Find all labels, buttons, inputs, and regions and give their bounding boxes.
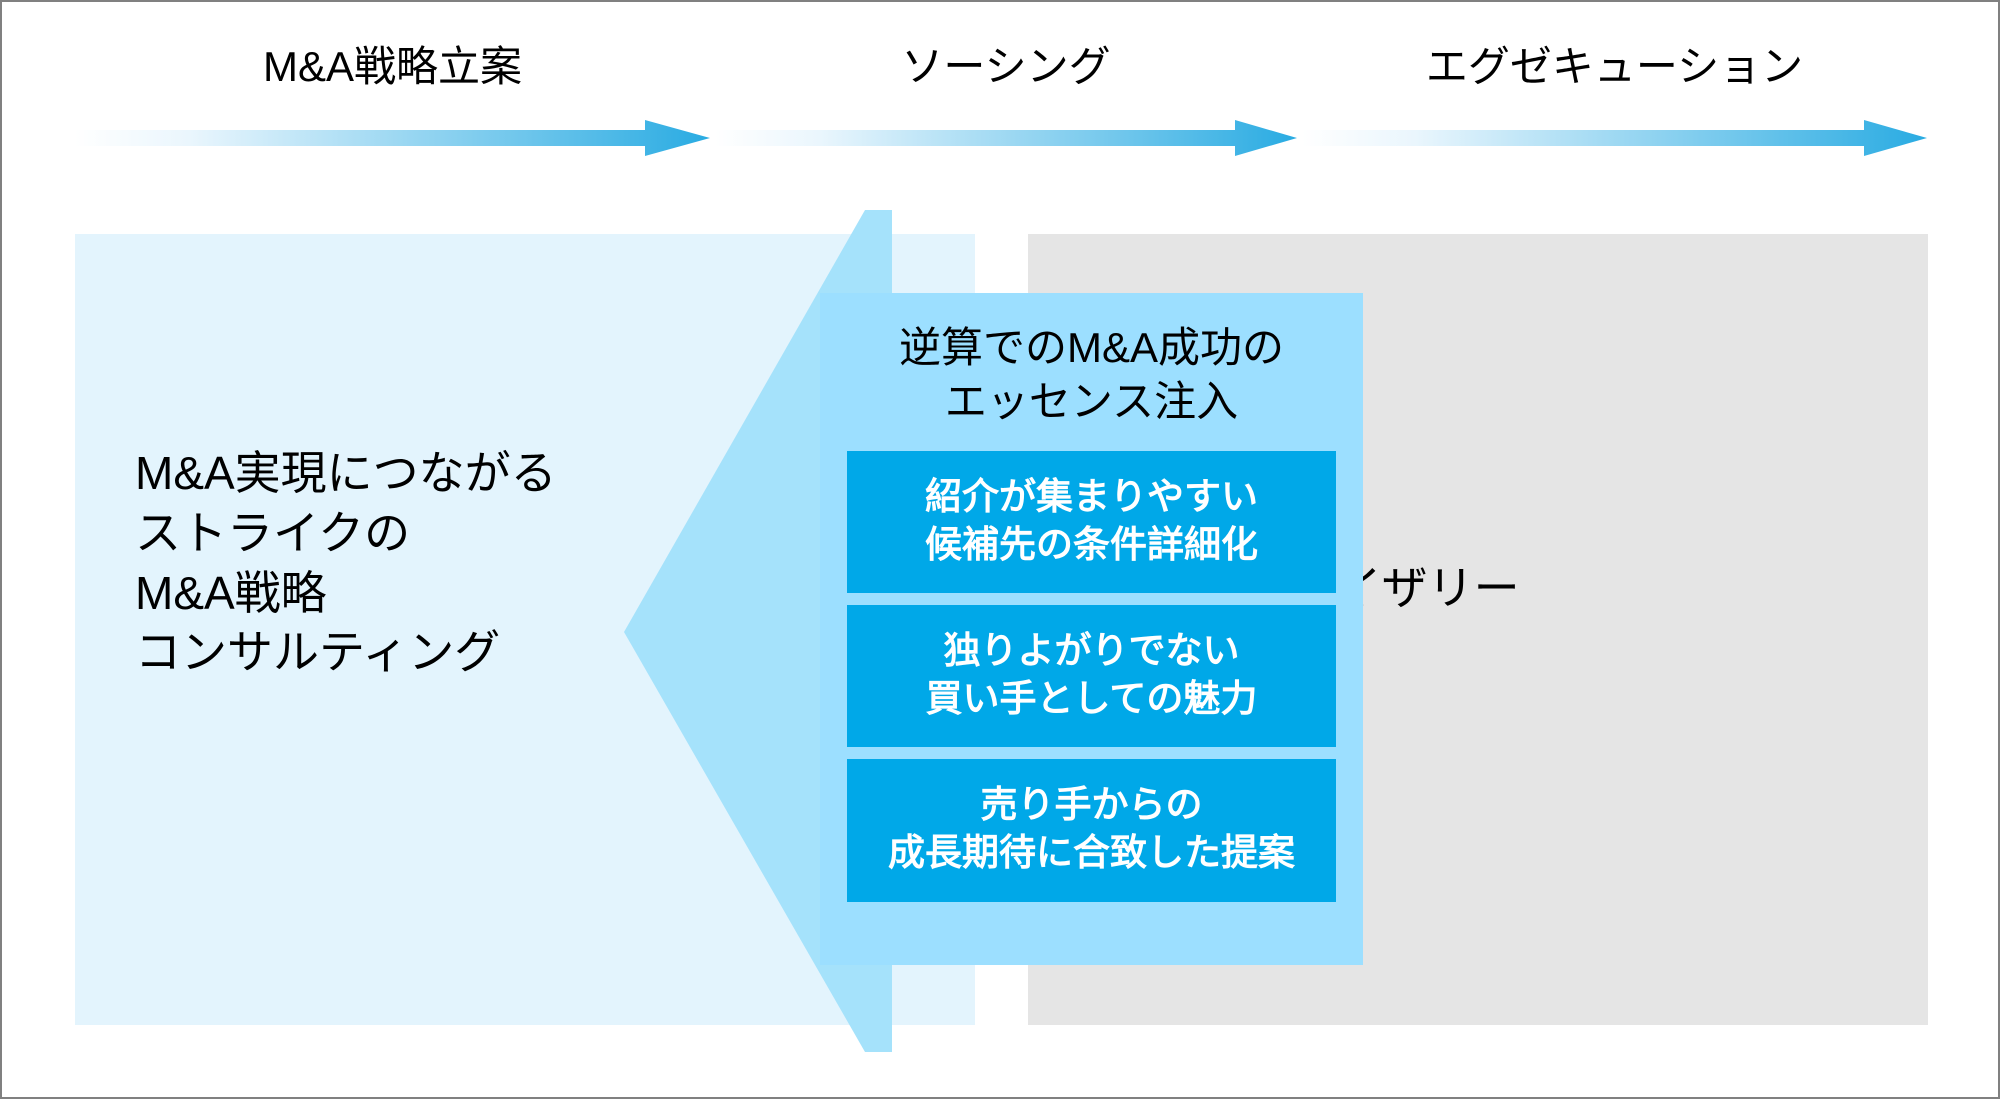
center-panel-heading: 逆算でのM&A成功の エッセンス注入: [820, 321, 1363, 429]
right-arrow-gradient-icon: [715, 120, 1297, 156]
center-card[interactable]: 売り手からの 成長期待に合致した提案: [847, 759, 1336, 901]
center-card[interactable]: 紹介が集まりやすい 候補先の条件詳細化: [847, 451, 1336, 593]
center-panel-essence-injection: 逆算でのM&A成功の エッセンス注入 紹介が集まりやすい 候補先の条件詳細化 独…: [820, 293, 1363, 965]
slide-canvas: M&A戦略立案 ソーシング: [0, 0, 2000, 1099]
phase-column-strategy: M&A戦略立案: [75, 2, 710, 172]
phase-column-execution: エグゼキューション: [1302, 2, 1927, 172]
phase-label: エグゼキューション: [1302, 44, 1927, 90]
left-panel-text: M&A実現につながる ストライクの M&A戦略 コンサルティング: [135, 444, 557, 683]
phase-column-sourcing: ソーシング: [715, 2, 1297, 172]
right-arrow-gradient-icon: [1302, 120, 1927, 156]
phase-label: ソーシング: [715, 44, 1297, 90]
center-card-list: 紹介が集まりやすい 候補先の条件詳細化 独りよがりでない 買い手としての魅力 売…: [820, 451, 1363, 914]
phase-label: M&A戦略立案: [75, 44, 710, 90]
center-card[interactable]: 独りよがりでない 買い手としての魅力: [847, 605, 1336, 747]
right-arrow-gradient-icon: [75, 120, 710, 156]
